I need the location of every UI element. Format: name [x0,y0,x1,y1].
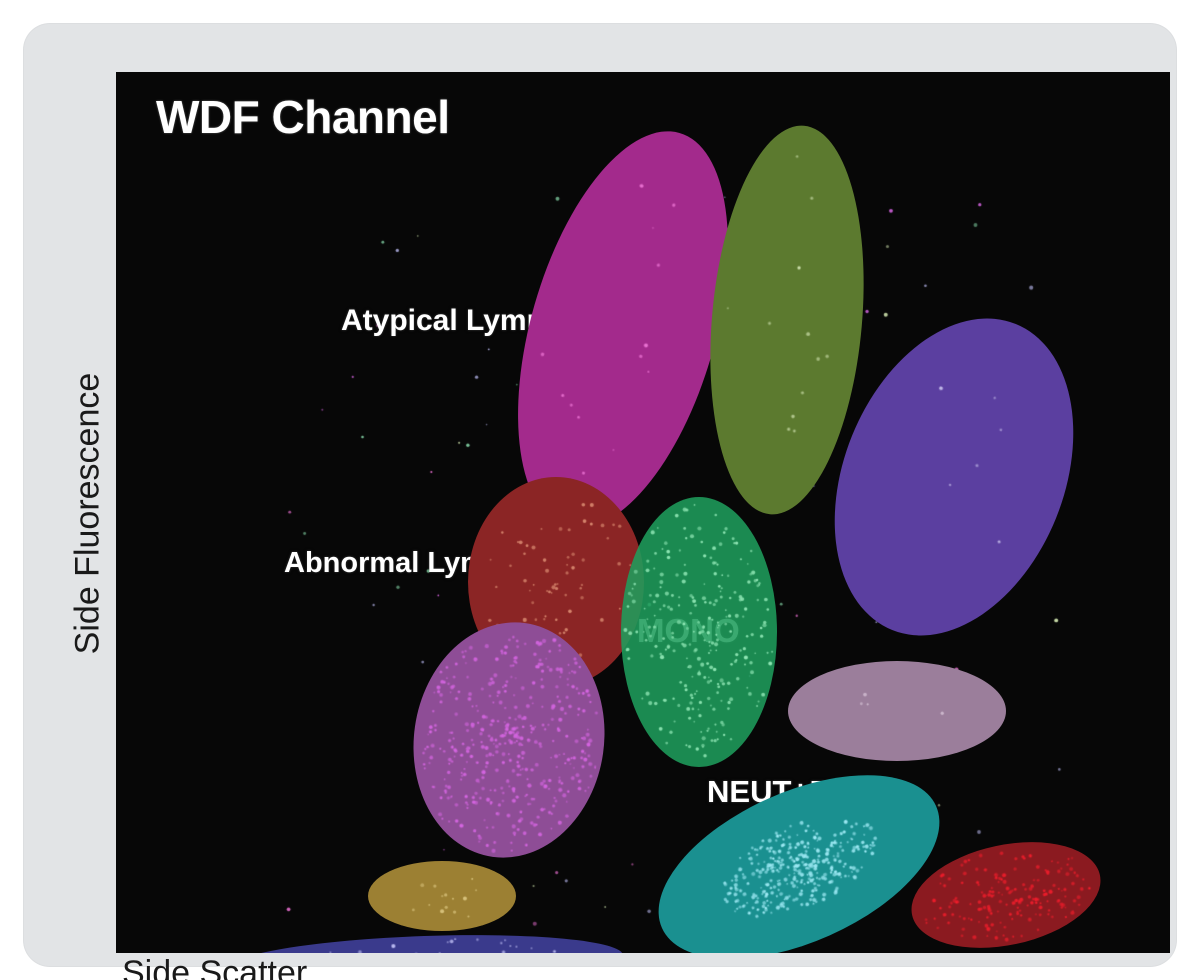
population-points-debris [226,929,624,953]
wdf-scattergram-page: Atypical LymphBlastIGAbnormal LymphBlast… [0,0,1200,980]
y-axis-label: Side Fluorescence [69,364,108,664]
population-points-mono [621,497,777,767]
population-points-nrbc [368,861,516,931]
population-points-left-shift [788,661,1006,761]
plot-area: Atypical LymphBlastIGAbnormal LymphBlast… [116,72,1170,953]
x-axis-label: Side Scatter [122,954,307,980]
scattergram-card: Atypical LymphBlastIGAbnormal LymphBlast… [24,24,1176,966]
page-title: WDF Channel [156,90,449,144]
